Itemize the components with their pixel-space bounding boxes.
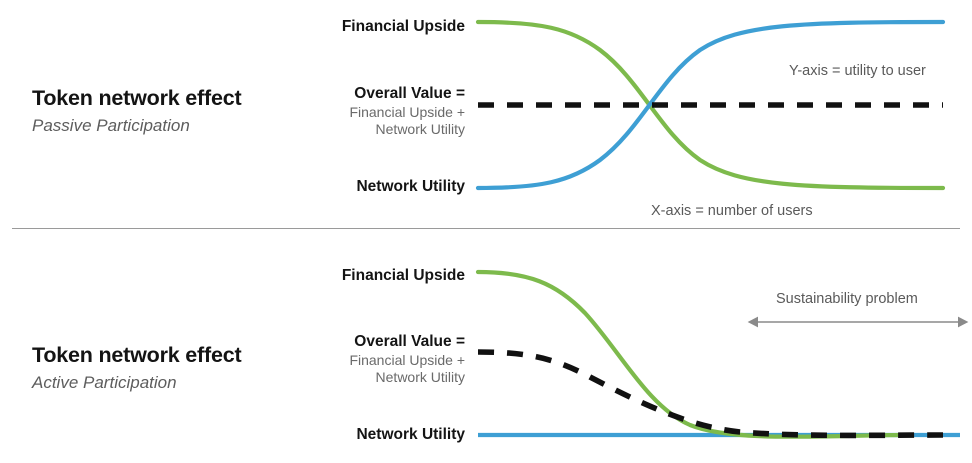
series-line-overall-value	[478, 352, 943, 435]
infographic-canvas: Token network effect Passive Participati…	[0, 0, 972, 463]
panel-divider	[12, 228, 960, 229]
annotation-y-axis: Y-axis = utility to user	[789, 63, 926, 79]
panel-active-participation: Token network effect Active Participatio…	[0, 231, 972, 463]
chart-active-participation	[0, 231, 972, 463]
chart-passive-participation	[0, 0, 972, 231]
annotation-sustainability-problem: Sustainability problem	[776, 291, 918, 307]
panel-passive-participation: Token network effect Passive Participati…	[0, 0, 972, 231]
annotation-x-axis: X-axis = number of users	[651, 203, 813, 219]
